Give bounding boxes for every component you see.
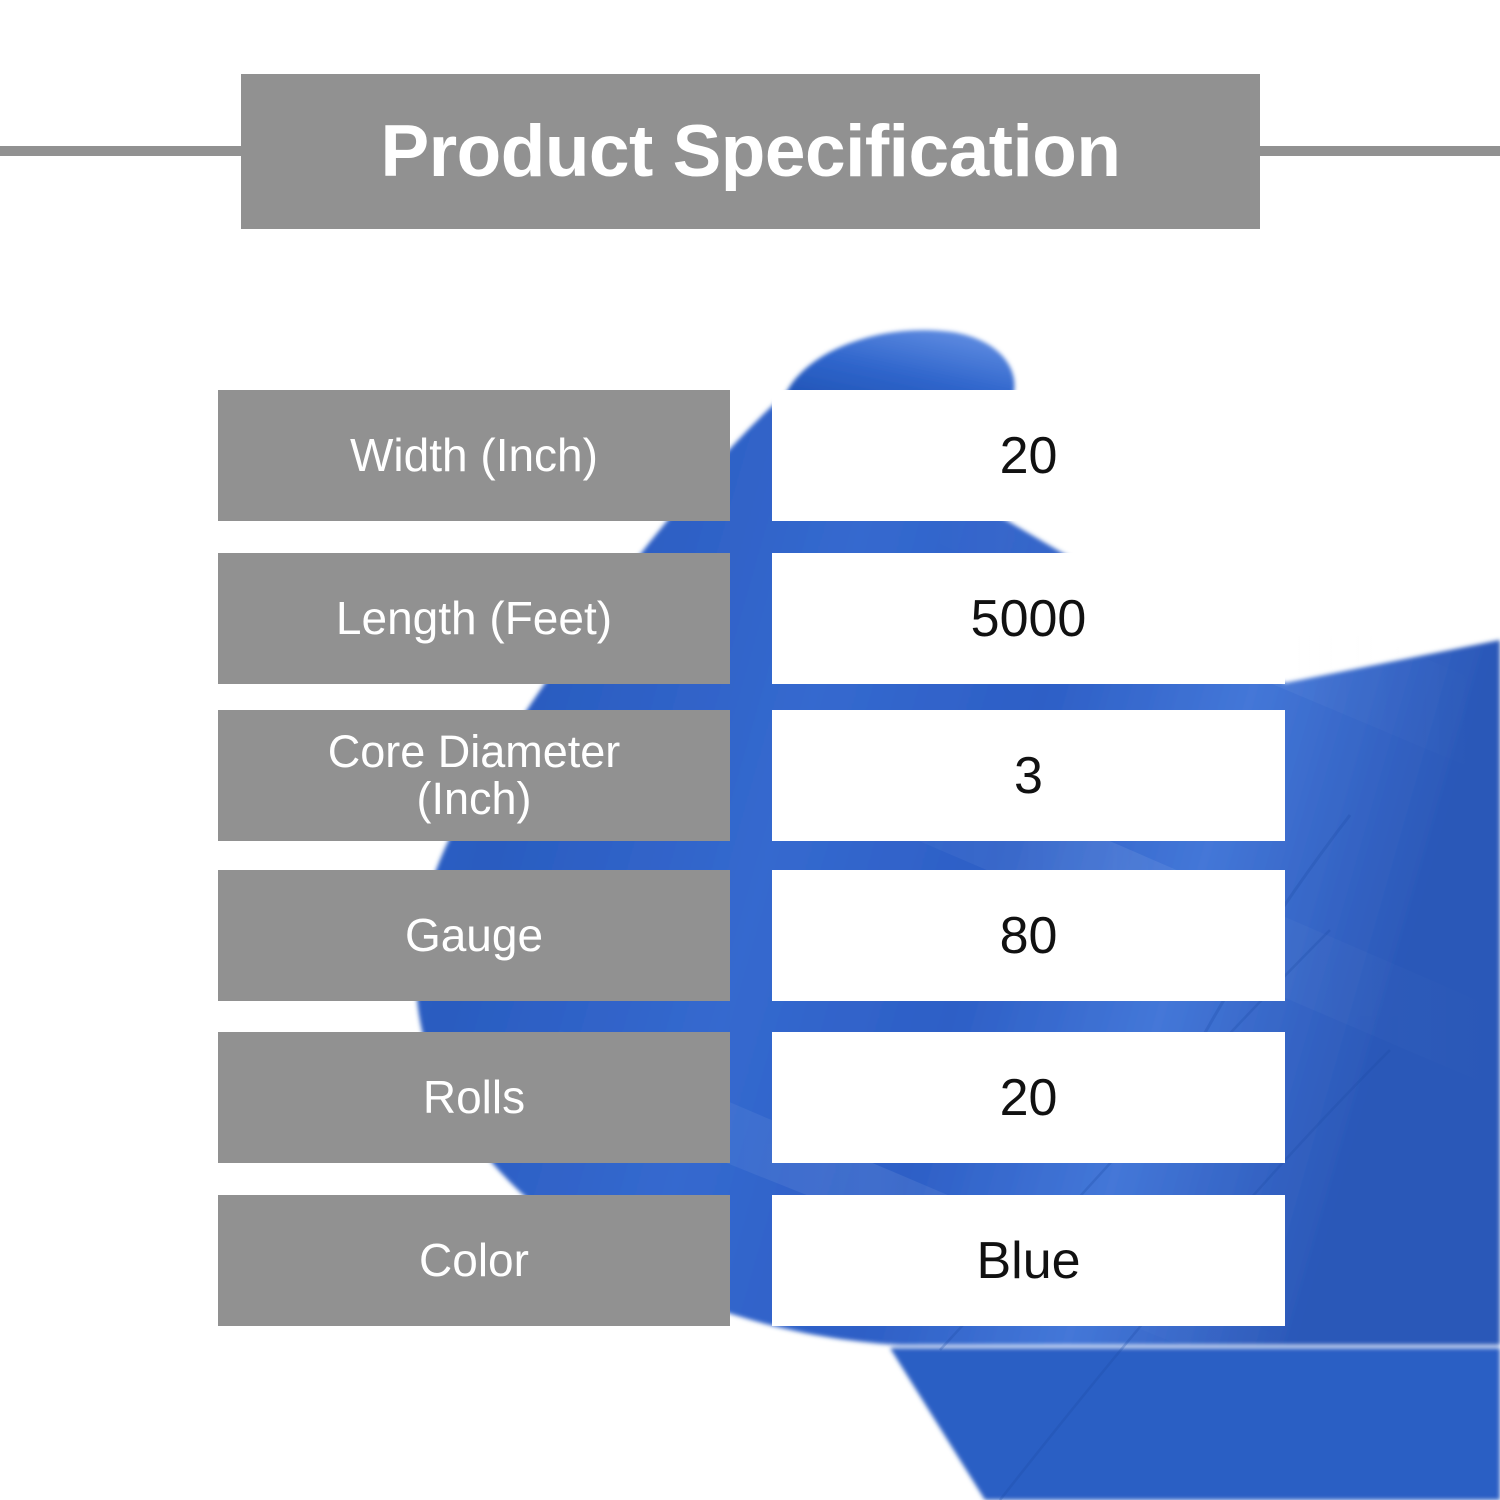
spec-value-length: 5000 — [772, 553, 1285, 684]
spec-label-text: Rolls — [423, 1074, 525, 1122]
spec-value-rolls: 20 — [772, 1032, 1285, 1163]
spec-value-core-diameter: 3 — [772, 710, 1285, 841]
spec-label-line-2: (Inch) — [328, 776, 621, 823]
spec-label-line-1: Core Diameter — [328, 729, 621, 776]
spec-value-text: 20 — [1000, 1072, 1058, 1124]
spec-label-text: Core Diameter (Inch) — [328, 729, 621, 823]
table-row: Core Diameter (Inch) 3 — [0, 710, 1500, 841]
table-row: Rolls 20 — [0, 1032, 1500, 1163]
infographic-canvas: Product Specification Width (Inch) 20 Le… — [0, 0, 1500, 1500]
spec-label-color: Color — [218, 1195, 730, 1326]
spec-value-width: 20 — [772, 390, 1285, 521]
spec-value-color: Blue — [772, 1195, 1285, 1326]
spec-label-rolls: Rolls — [218, 1032, 730, 1163]
spec-value-text: 3 — [1014, 750, 1043, 802]
product-specification-table: Width (Inch) 20 Length (Feet) 5000 Core … — [0, 0, 1500, 1500]
spec-value-text: 80 — [1000, 910, 1058, 962]
spec-label-text: Color — [419, 1237, 529, 1285]
spec-label-length: Length (Feet) — [218, 553, 730, 684]
spec-value-gauge: 80 — [772, 870, 1285, 1001]
spec-value-text: 20 — [1000, 430, 1058, 482]
spec-value-text: 5000 — [971, 593, 1087, 645]
spec-label-width: Width (Inch) — [218, 390, 730, 521]
table-row: Width (Inch) 20 — [0, 390, 1500, 521]
spec-label-gauge: Gauge — [218, 870, 730, 1001]
spec-label-core-diameter: Core Diameter (Inch) — [218, 710, 730, 841]
table-row: Length (Feet) 5000 — [0, 553, 1500, 684]
table-row: Gauge 80 — [0, 870, 1500, 1001]
spec-label-text: Width (Inch) — [350, 432, 598, 480]
spec-label-text: Gauge — [405, 912, 543, 960]
spec-value-text: Blue — [976, 1235, 1080, 1287]
table-row: Color Blue — [0, 1195, 1500, 1326]
spec-label-text: Length (Feet) — [336, 595, 612, 643]
